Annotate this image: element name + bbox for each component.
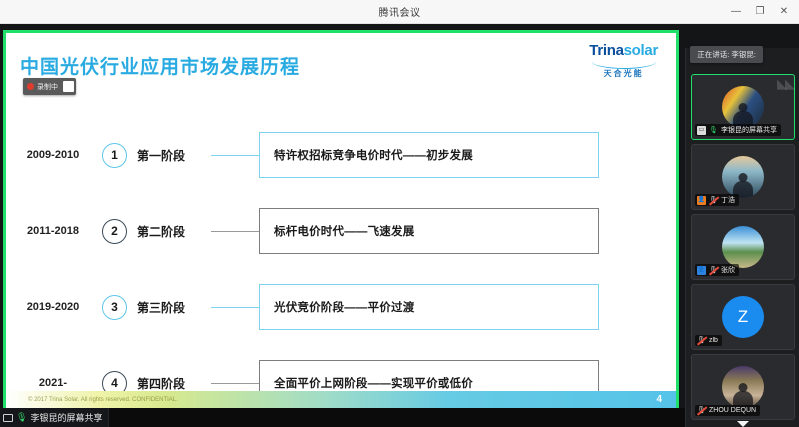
tencent-meeting-window: 腾讯会议 — ❐ ✕ Trinasolar 天合光能 中国光伏行业应用市场发展历… bbox=[0, 0, 799, 427]
speaking-tooltip: 正在讲话: 李银昆: bbox=[690, 46, 763, 63]
participant-rail: › ◣◣ ▭ 🎙 李银昆的屏幕共享 bbox=[685, 48, 799, 427]
taskbar-item-screen-share[interactable]: 🎙 李银昆的屏幕共享 bbox=[0, 408, 109, 427]
window-title: 腾讯会议 bbox=[379, 4, 421, 19]
participant-name: 李银昆的屏幕共享 bbox=[721, 125, 777, 135]
timeline-row: 2011-2018 2 第二阶段 标杆电价时代——飞速发展 bbox=[6, 193, 676, 269]
mic-off-icon: 🎙 bbox=[697, 336, 706, 345]
row-stage-label: 第二阶段 bbox=[137, 223, 205, 240]
avatar: Z bbox=[722, 296, 764, 338]
row-connector-line bbox=[211, 155, 259, 156]
avatar bbox=[722, 86, 764, 128]
participant-name: ZHOU DEQUN bbox=[709, 407, 756, 414]
scroll-down-chevron-icon[interactable] bbox=[737, 421, 749, 427]
mic-on-icon: 🎙 bbox=[709, 126, 718, 135]
row-connector-line bbox=[211, 307, 259, 308]
slide-page-number: 4 bbox=[656, 394, 662, 405]
monitor-icon bbox=[3, 414, 13, 422]
participant-label: 🎙 ZHOU DEQUN bbox=[695, 405, 760, 416]
shared-screen-frame: Trinasolar 天合光能 中国光伏行业应用市场发展历程 2009-2010… bbox=[3, 30, 679, 411]
timeline-row: 2019-2020 3 第三阶段 光伏竞价阶段——平价过渡 bbox=[6, 269, 676, 345]
row-years: 2009-2010 bbox=[6, 149, 100, 161]
screen-share-icon: ▭ bbox=[697, 126, 706, 135]
participant-name: zlb bbox=[709, 337, 718, 344]
row-number-badge: 2 bbox=[102, 219, 127, 244]
cohost-badge-icon: 👤 bbox=[697, 266, 706, 275]
recording-indicator[interactable]: 录制中 bbox=[23, 78, 76, 95]
row-connector-line bbox=[211, 231, 259, 232]
recording-dot-icon bbox=[27, 83, 34, 90]
recording-label: 录制中 bbox=[37, 82, 58, 92]
mic-icon: 🎙 bbox=[16, 413, 27, 422]
participant-tile[interactable]: ▭ 🎙 李银昆的屏幕共享 bbox=[691, 74, 795, 140]
row-description-text: 特许权招标竞争电价时代——初步发展 bbox=[274, 147, 473, 163]
row-stage-label: 第三阶段 bbox=[137, 299, 205, 316]
participant-name: 丁浩 bbox=[721, 195, 735, 205]
logo-chinese: 天合光能 bbox=[589, 70, 658, 78]
row-description-box: 特许权招标竞争电价时代——初步发展 bbox=[259, 132, 599, 178]
avatar bbox=[722, 226, 764, 268]
slide-title: 中国光伏行业应用市场发展历程 bbox=[20, 52, 300, 79]
participant-tile[interactable]: 👤 🎙 张欣 bbox=[691, 214, 795, 280]
window-titlebar: 腾讯会议 — ❐ ✕ bbox=[0, 0, 799, 24]
row-number-badge: 3 bbox=[102, 295, 127, 320]
participant-label: 👤 🎙 丁浩 bbox=[695, 194, 739, 206]
participant-tile[interactable]: 👤 🎙 丁浩 bbox=[691, 144, 795, 210]
meeting-canvas: Trinasolar 天合光能 中国光伏行业应用市场发展历程 2009-2010… bbox=[0, 24, 799, 427]
row-connector-line bbox=[211, 383, 259, 384]
timeline-row: 2009-2010 1 第一阶段 特许权招标竞争电价时代——初步发展 bbox=[6, 117, 676, 193]
row-stage-label: 第一阶段 bbox=[137, 147, 205, 164]
mic-off-icon: 🎙 bbox=[709, 196, 718, 205]
taskbar: 🎙 李银昆的屏幕共享 bbox=[0, 408, 685, 427]
stop-recording-icon[interactable] bbox=[63, 81, 74, 92]
row-description-text: 标杆电价时代——飞速发展 bbox=[274, 223, 414, 239]
participant-label: 👤 🎙 张欣 bbox=[695, 264, 739, 276]
avatar bbox=[722, 156, 764, 198]
row-description-text: 全面平价上网阶段——实现平价或低价 bbox=[274, 375, 473, 391]
participant-name: 张欣 bbox=[721, 265, 735, 275]
minimize-icon[interactable]: — bbox=[725, 1, 747, 23]
timeline-rows: 2009-2010 1 第一阶段 特许权招标竞争电价时代——初步发展 2011-… bbox=[6, 117, 676, 411]
slide-footer: © 2017 Trina Solar. All rights reserved.… bbox=[6, 391, 676, 408]
trina-solar-logo: Trinasolar 天合光能 bbox=[589, 43, 658, 78]
participant-list: ▭ 🎙 李银昆的屏幕共享 👤 🎙 丁浩 bbox=[686, 48, 799, 427]
participant-label: 🎙 zlb bbox=[695, 335, 722, 346]
row-description-box: 光伏竞价阶段——平价过渡 bbox=[259, 284, 599, 330]
host-badge-icon: 👤 bbox=[697, 196, 706, 205]
row-years: 2011-2018 bbox=[6, 225, 100, 237]
row-description-text: 光伏竞价阶段——平价过渡 bbox=[274, 299, 414, 315]
presentation-slide: Trinasolar 天合光能 中国光伏行业应用市场发展历程 2009-2010… bbox=[6, 33, 676, 408]
row-years: 2021- bbox=[6, 377, 100, 389]
restore-icon[interactable]: ❐ bbox=[749, 1, 771, 23]
row-number-badge: 1 bbox=[102, 143, 127, 168]
logo-arc-icon bbox=[592, 60, 656, 69]
mic-off-icon: 🎙 bbox=[709, 266, 718, 275]
participant-tile[interactable]: 🎙 ZHOU DEQUN bbox=[691, 354, 795, 420]
row-description-box: 标杆电价时代——飞速发展 bbox=[259, 208, 599, 254]
close-icon[interactable]: ✕ bbox=[773, 1, 795, 23]
participant-label: ▭ 🎙 李银昆的屏幕共享 bbox=[695, 124, 781, 136]
logo-word-trina: Trina bbox=[589, 42, 623, 59]
row-stage-label: 第四阶段 bbox=[137, 375, 205, 392]
mic-off-icon: 🎙 bbox=[697, 406, 706, 415]
copyright-text: © 2017 Trina Solar. All rights reserved.… bbox=[28, 397, 178, 403]
participant-tile[interactable]: Z 🎙 zlb bbox=[691, 284, 795, 350]
window-controls: — ❐ ✕ bbox=[725, 0, 795, 24]
logo-word-solar: solar bbox=[624, 42, 658, 59]
taskbar-item-label: 李银昆的屏幕共享 bbox=[30, 411, 102, 424]
avatar bbox=[722, 366, 764, 408]
row-years: 2019-2020 bbox=[6, 301, 100, 313]
